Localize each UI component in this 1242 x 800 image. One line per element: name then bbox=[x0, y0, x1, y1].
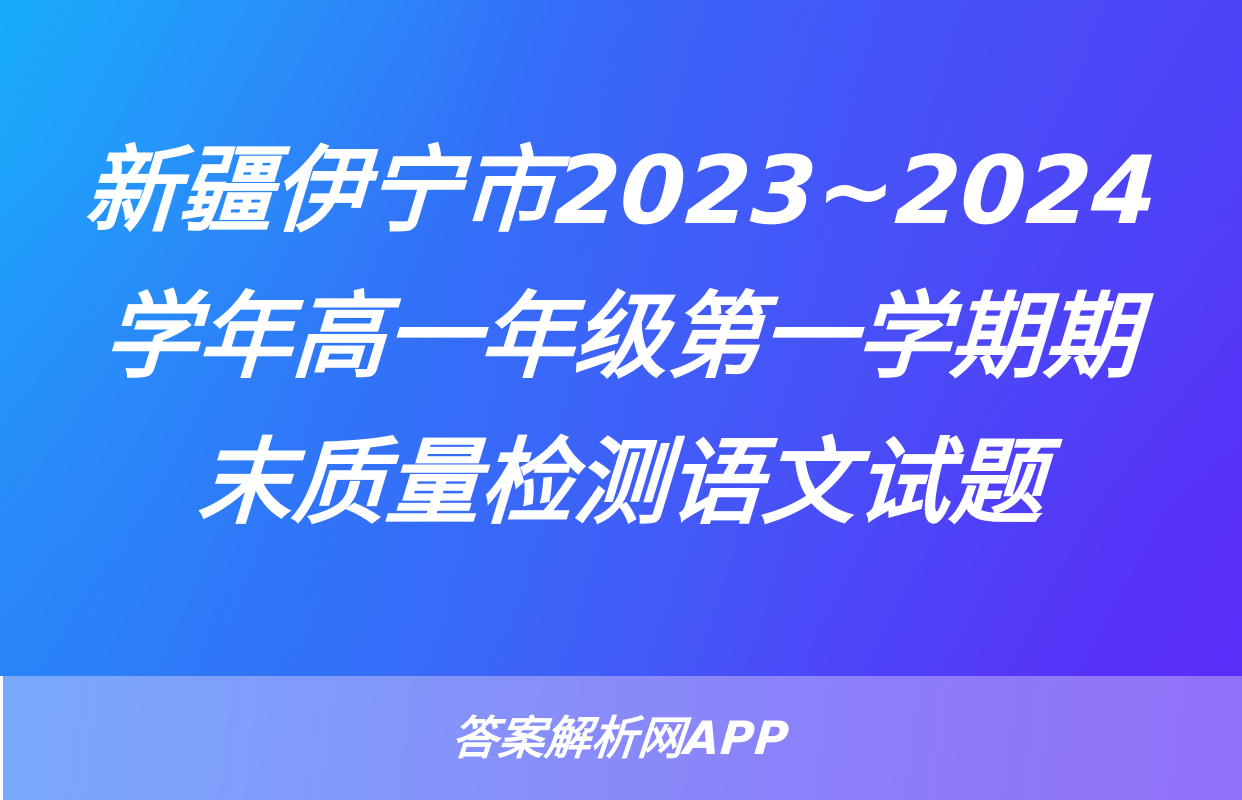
app-watermark-label: 答案解析网APP bbox=[450, 710, 792, 766]
exam-title-poster: 新疆伊宁市2023~2024 学年高一年级第一学期期 末质量检测语文试题 答案解… bbox=[0, 0, 1242, 800]
poster-title-line-2: 学年高一年级第一学期期 bbox=[100, 265, 1142, 411]
poster-title-line-3: 末质量检测语文试题 bbox=[194, 411, 1048, 557]
poster-title-line-1: 新疆伊宁市2023~2024 bbox=[81, 119, 1161, 265]
band-left-edge-accent bbox=[0, 676, 3, 800]
watermark-band: 答案解析网APP bbox=[0, 676, 1242, 800]
watermark-band-inner: 答案解析网APP bbox=[0, 676, 1242, 800]
poster-title-block: 新疆伊宁市2023~2024 学年高一年级第一学期期 末质量检测语文试题 bbox=[0, 0, 1242, 676]
